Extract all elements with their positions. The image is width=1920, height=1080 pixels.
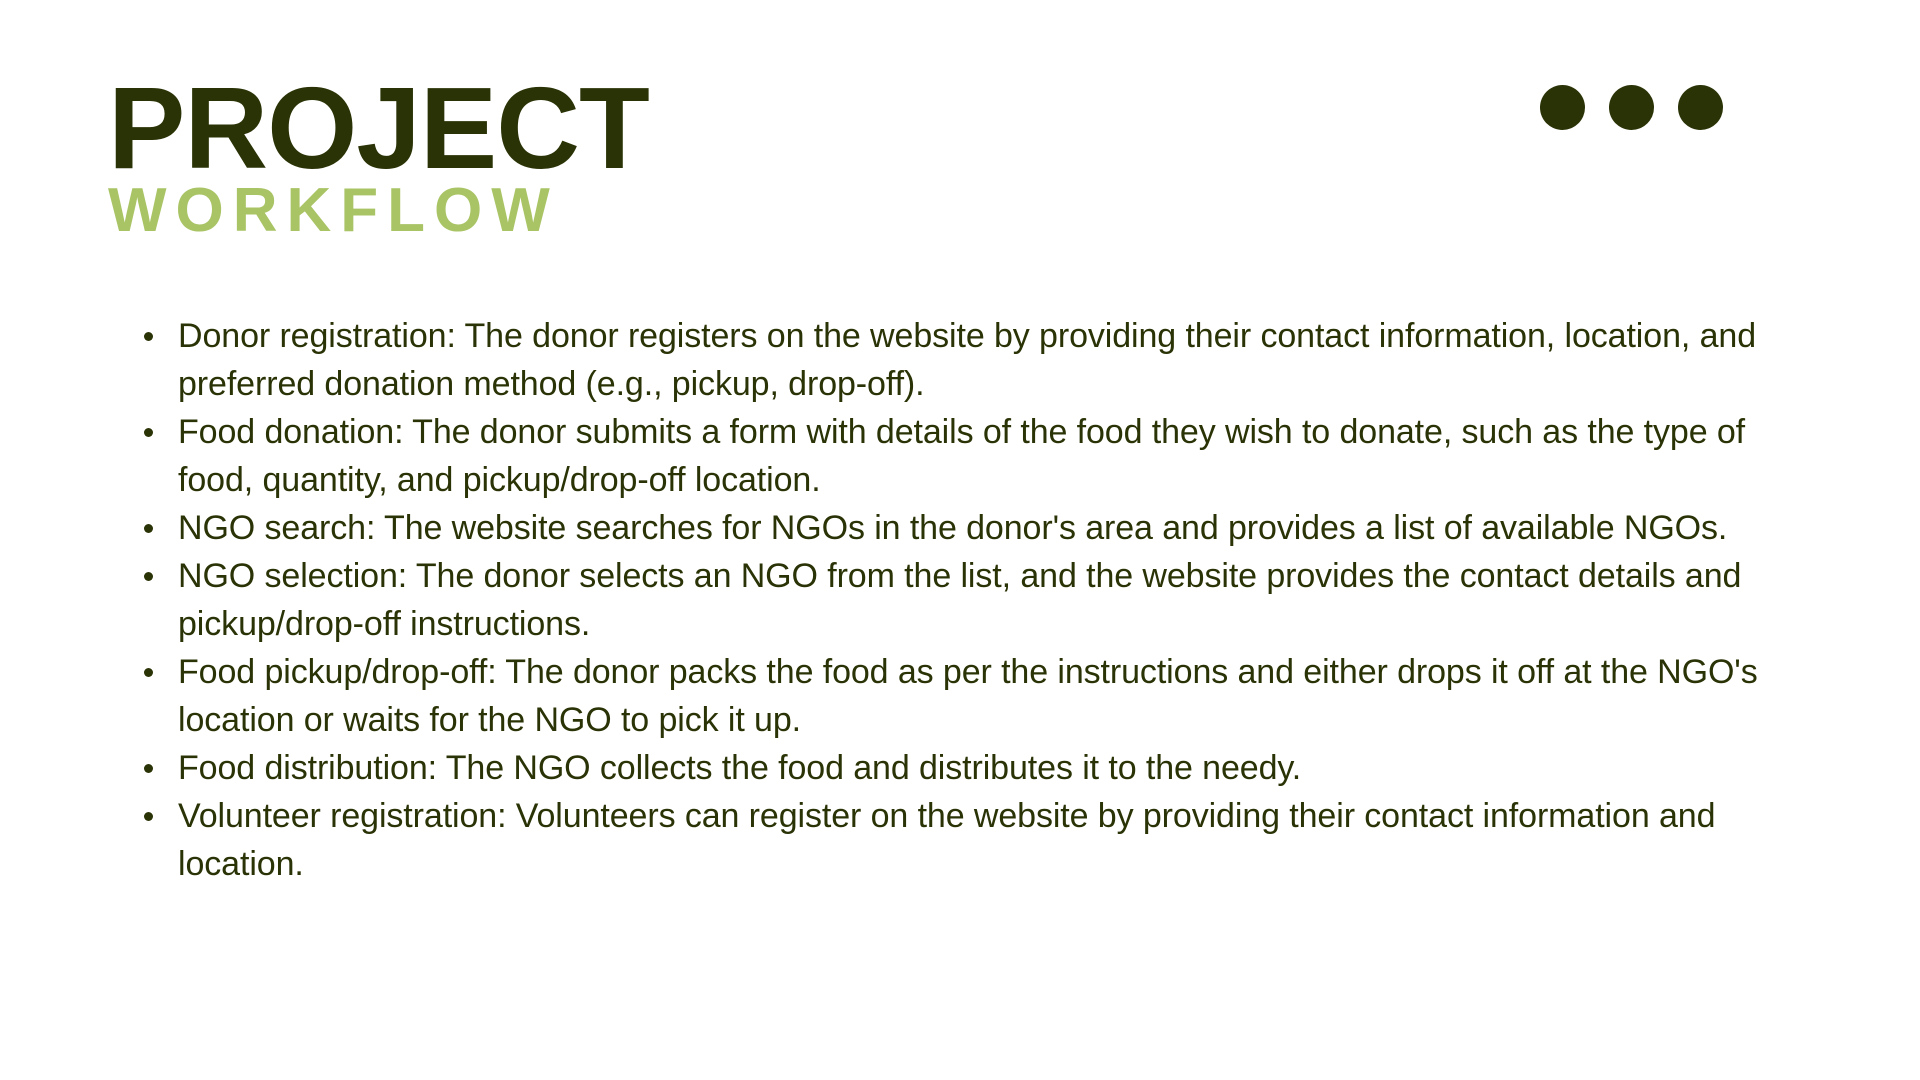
circle-dot-icon bbox=[1678, 85, 1723, 130]
workflow-content: Donor registration: The donor registers … bbox=[130, 312, 1770, 888]
list-item-text: Food distribution: The NGO collects the … bbox=[178, 744, 1770, 792]
bullet-dot-icon bbox=[144, 764, 153, 773]
list-item-text: NGO selection: The donor selects an NGO … bbox=[178, 552, 1770, 648]
bullet-dot-icon bbox=[144, 524, 153, 533]
list-item: NGO search: The website searches for NGO… bbox=[130, 504, 1770, 552]
circle-dot-icon bbox=[1540, 85, 1585, 130]
bullet-dot-icon bbox=[144, 812, 153, 821]
list-item: NGO selection: The donor selects an NGO … bbox=[130, 552, 1770, 648]
list-item-text: Food pickup/drop-off: The donor packs th… bbox=[178, 648, 1770, 744]
list-item: Food pickup/drop-off: The donor packs th… bbox=[130, 648, 1770, 744]
slide-canvas: PROJECT WORKFLOW Donor registration: The… bbox=[0, 0, 1920, 1080]
list-item-text: Food donation: The donor submits a form … bbox=[178, 408, 1770, 504]
list-item: Food distribution: The NGO collects the … bbox=[130, 744, 1770, 792]
circle-dot-icon bbox=[1609, 85, 1654, 130]
slide-header: PROJECT WORKFLOW bbox=[108, 72, 1208, 242]
bullet-dot-icon bbox=[144, 668, 153, 677]
bullet-dot-icon bbox=[144, 428, 153, 437]
bullet-dot-icon bbox=[144, 332, 153, 341]
decorative-dots-group bbox=[1540, 85, 1723, 130]
list-item-text: Donor registration: The donor registers … bbox=[178, 312, 1770, 408]
page-subtitle: WORKFLOW bbox=[108, 180, 1208, 242]
list-item: Volunteer registration: Volunteers can r… bbox=[130, 792, 1770, 888]
page-title: PROJECT bbox=[108, 72, 1208, 186]
bullet-dot-icon bbox=[144, 572, 153, 581]
workflow-bullet-list: Donor registration: The donor registers … bbox=[130, 312, 1770, 888]
list-item-text: NGO search: The website searches for NGO… bbox=[178, 504, 1770, 552]
list-item: Food donation: The donor submits a form … bbox=[130, 408, 1770, 504]
list-item: Donor registration: The donor registers … bbox=[130, 312, 1770, 408]
list-item-text: Volunteer registration: Volunteers can r… bbox=[178, 792, 1770, 888]
